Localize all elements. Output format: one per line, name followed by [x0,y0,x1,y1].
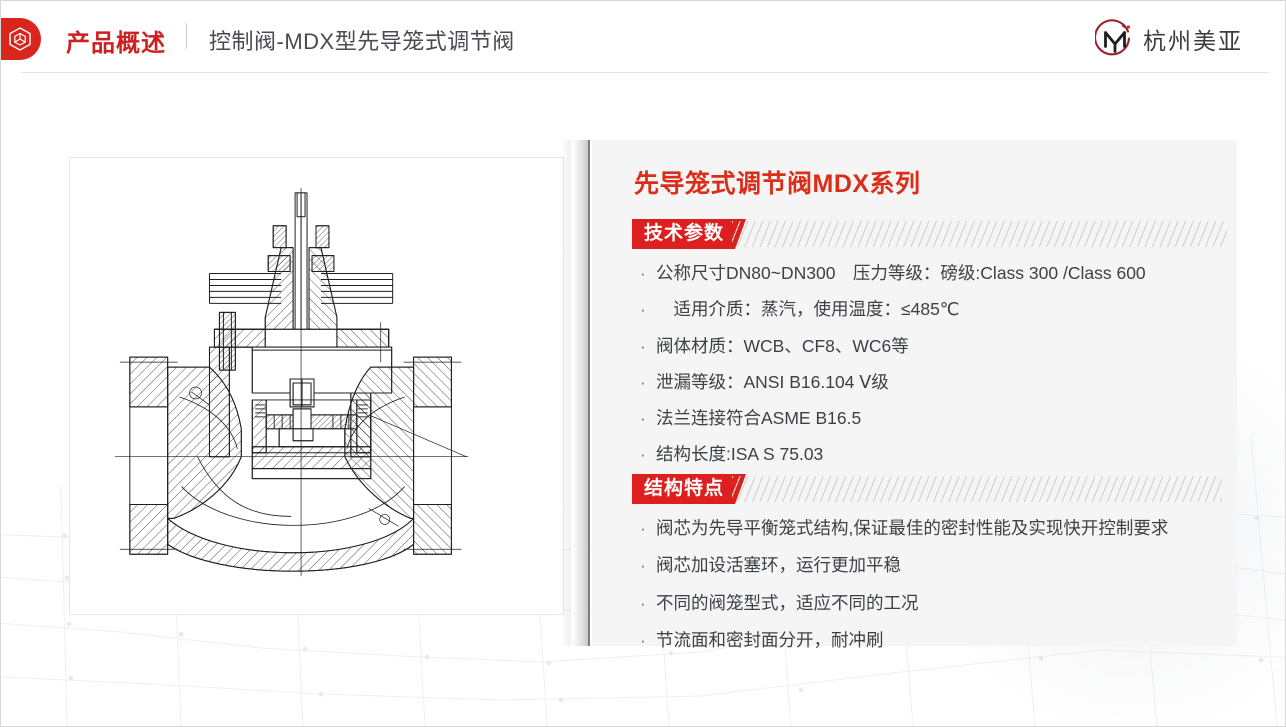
list-item: · 不同的阀笼型式，适应不同的工况 [640,592,1240,616]
list-item-text: 阀芯加设活塞环，运行更加平稳 [656,554,1240,578]
meiya-m-circle-logo [1095,19,1135,59]
section-header-tech: 技术参数 [632,219,1197,249]
section-hatch-tech [732,221,1227,247]
list-item: · 结构长度:ISA S 75.03 [640,443,1240,467]
bullet-glyph: · [640,554,656,578]
page-header: 产品概述 控制阀-MDX型先导笼式调节阀 杭州美亚 [1,1,1286,75]
cube-hexagon-icon [7,26,33,52]
section-hatch-struct [732,476,1222,502]
bullet-glyph: · [640,592,656,616]
spec-list-tech: · 公称尺寸DN80~DN300 压力等级：磅级:Class 300 /Clas… [640,262,1240,480]
header-badge [0,18,41,60]
section-tag-struct: 结构特点 [632,474,746,504]
panel-title-text: 先导笼式调节阀MDX系列 [634,170,921,198]
section-header-struct: 结构特点 [632,474,1197,504]
list-item-text: 节流面和密封面分开，耐冲刷 [656,629,1240,653]
bullet-glyph: · [640,443,656,467]
list-item: · 阀芯为先导平衡笼式结构,保证最佳的密封性能及实现快开控制要求 [640,517,1240,541]
bullet-glyph: · [640,371,656,395]
list-item: · 泄漏等级：ANSI B16.104 Ⅴ级 [640,371,1240,395]
list-item: · 节流面和密封面分开，耐冲刷 [640,629,1240,653]
list-item-text: 不同的阀笼型式，适应不同的工况 [656,592,1240,616]
list-item-text: 法兰连接符合ASME B16.5 [656,407,1240,431]
list-item-text: 阀芯为先导平衡笼式结构,保证最佳的密封性能及实现快开控制要求 [656,517,1240,541]
spec-list-struct: · 阀芯为先导平衡笼式结构,保证最佳的密封性能及实现快开控制要求 · 阀芯加设活… [640,517,1240,666]
spec-panel: 先导笼式调节阀MDX系列 技术参数 · 公称尺寸DN80~DN300 压力等级：… [592,140,1237,646]
page-subtitle: 控制阀-MDX型先导笼式调节阀 [209,24,515,56]
slide-page: 产品概述 控制阀-MDX型先导笼式调节阀 杭州美亚 [0,0,1286,727]
list-item: · 阀芯加设活塞环，运行更加平稳 [640,554,1240,578]
title-divider [186,23,187,49]
brand-name: 杭州美亚 [1143,22,1243,56]
list-item: · 公称尺寸DN80~DN300 压力等级：磅级:Class 300 /Clas… [640,262,1240,286]
list-item: · 适用介质：蒸汽，使用温度：≤485℃ [640,298,1240,322]
list-item-text: 阀体材质：WCB、CF8、WC6等 [656,335,1240,359]
list-item: · 法兰连接符合ASME B16.5 [640,407,1240,431]
list-item-text: 公称尺寸DN80~DN300 压力等级：磅级:Class 300 /Class … [656,262,1240,286]
page-title: 产品概述 [66,23,166,58]
panel-fold-edge [571,140,590,646]
list-item-text: 适用介质：蒸汽，使用温度：≤485℃ [656,298,1240,322]
header-divider-rule [21,72,1269,73]
brand-lockup: 杭州美亚 [1095,19,1243,59]
bullet-glyph: · [640,335,656,359]
bullet-glyph: · [640,298,656,322]
list-item-text: 结构长度:ISA S 75.03 [656,443,1240,467]
panel-title: 先导笼式调节阀MDX系列 [634,164,921,200]
valve-drawing-card [69,157,564,615]
section-tag-tech: 技术参数 [632,219,746,249]
list-item-text: 泄漏等级：ANSI B16.104 Ⅴ级 [656,371,1240,395]
bullet-glyph: · [640,629,656,653]
control-valve-cross-section-drawing [70,158,563,614]
bullet-glyph: · [640,407,656,431]
bullet-glyph: · [640,517,656,541]
bullet-glyph: · [640,262,656,286]
list-item: · 阀体材质：WCB、CF8、WC6等 [640,335,1240,359]
